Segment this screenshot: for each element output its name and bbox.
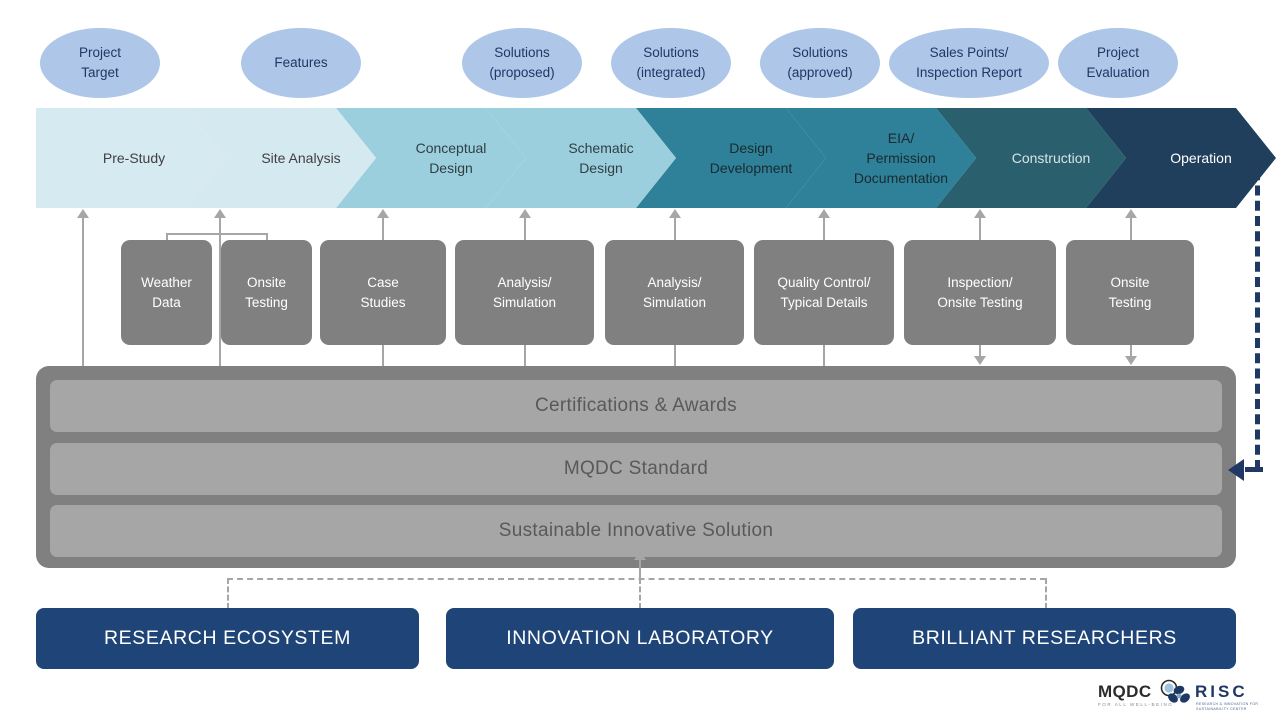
foundation-box[interactable]: BRILLIANT RESEARCHERS bbox=[853, 608, 1236, 669]
connector-analysis2-down bbox=[674, 345, 676, 366]
standards-bar[interactable]: MQDC Standard bbox=[50, 443, 1222, 495]
foundation-box[interactable]: RESEARCH ECOSYSTEM bbox=[36, 608, 419, 669]
connector-case-studies-line bbox=[382, 218, 384, 241]
connector-inspection-down-arrowhead bbox=[974, 356, 986, 365]
connector-case-studies-arrowhead bbox=[377, 209, 389, 218]
connector-onsite2-arrowhead bbox=[1125, 209, 1137, 218]
standards-bar[interactable]: Sustainable Innovative Solution bbox=[50, 505, 1222, 557]
connector-quality-down bbox=[823, 345, 825, 366]
outcome-ellipse: Sales Points/ Inspection Report bbox=[889, 28, 1049, 98]
process-flow-diagram: Project TargetFeaturesSolutions (propose… bbox=[0, 0, 1280, 720]
connector-analysis2-line bbox=[674, 218, 676, 241]
outcome-ellipse: Solutions (integrated) bbox=[611, 28, 731, 98]
foundation-uplink-arrowhead bbox=[634, 551, 646, 560]
connector-analysis1-arrowhead bbox=[519, 209, 531, 218]
risc-wordmark: RISC bbox=[1195, 682, 1248, 702]
resource-box[interactable]: Analysis/ Simulation bbox=[605, 240, 744, 345]
foundation-uplink-line bbox=[639, 560, 641, 579]
connector-inspection-line bbox=[979, 218, 981, 241]
foundation-stub-center bbox=[639, 578, 641, 609]
connector-siteanalysis-bracket bbox=[166, 233, 267, 235]
risc-leaf-icon bbox=[1166, 683, 1192, 707]
feedback-right-segment bbox=[1255, 155, 1260, 470]
risc-tagline: RESEARCH & INNOVATION FOR SUSTAINABILITY… bbox=[1196, 702, 1268, 712]
phase-chevron[interactable]: Pre-Study bbox=[36, 108, 226, 208]
outcome-ellipse: Project Evaluation bbox=[1058, 28, 1178, 98]
connector-prestudy-arrowhead bbox=[77, 209, 89, 218]
foundation-stub-right bbox=[1045, 578, 1047, 609]
standards-panel: Certifications & AwardsMQDC StandardSust… bbox=[36, 366, 1236, 568]
connector-onsite2-line bbox=[1130, 218, 1132, 241]
resource-box[interactable]: Analysis/ Simulation bbox=[455, 240, 594, 345]
connector-analysis1-line bbox=[524, 218, 526, 241]
connector-quality-arrowhead bbox=[818, 209, 830, 218]
feedback-bottom-segment bbox=[1245, 467, 1263, 472]
outcome-ellipse: Solutions (approved) bbox=[760, 28, 880, 98]
resource-box[interactable]: Case Studies bbox=[320, 240, 446, 345]
logo-group: MQDC FOR ALL WELL-BEING RISC RESEARCH & … bbox=[1090, 681, 1270, 715]
connector-onsite2-down-arrowhead bbox=[1125, 356, 1137, 365]
connector-siteanalysis-arrowhead bbox=[214, 209, 226, 218]
outcome-ellipse: Solutions (proposed) bbox=[462, 28, 582, 98]
mqdc-wordmark: MQDC bbox=[1098, 682, 1152, 702]
feedback-arrowhead bbox=[1228, 459, 1244, 481]
foundation-bus-line bbox=[227, 578, 1046, 580]
resource-box[interactable]: Inspection/ Onsite Testing bbox=[904, 240, 1056, 345]
mqdc-tagline: FOR ALL WELL-BEING bbox=[1098, 702, 1173, 707]
outcome-ellipse: Features bbox=[241, 28, 361, 98]
foundation-box[interactable]: INNOVATION LABORATORY bbox=[446, 608, 834, 669]
connector-case-studies-down bbox=[382, 345, 384, 366]
connector-quality-line bbox=[823, 218, 825, 241]
connector-inspection-arrowhead bbox=[974, 209, 986, 218]
standards-bar[interactable]: Certifications & Awards bbox=[50, 380, 1222, 432]
resource-box[interactable]: Onsite Testing bbox=[1066, 240, 1194, 345]
outcome-ellipse: Project Target bbox=[40, 28, 160, 98]
connector-analysis1-down bbox=[524, 345, 526, 366]
foundation-stub-left bbox=[227, 578, 229, 609]
connector-prestudy-line bbox=[82, 218, 84, 366]
connector-analysis2-arrowhead bbox=[669, 209, 681, 218]
resource-box[interactable]: Weather Data bbox=[121, 240, 212, 345]
resource-box[interactable]: Onsite Testing bbox=[221, 240, 312, 345]
resource-box[interactable]: Quality Control/ Typical Details bbox=[754, 240, 894, 345]
